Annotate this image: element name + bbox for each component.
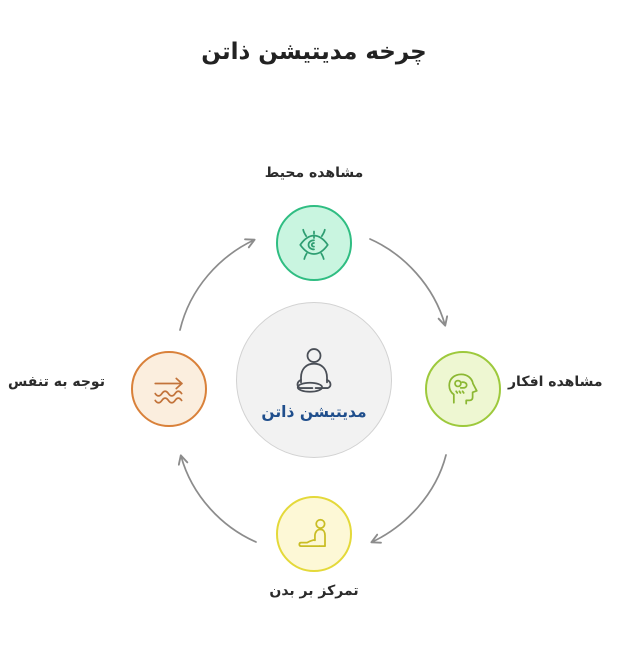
arrow-left-to-top <box>180 240 254 330</box>
node-attention-to-breath[interactable] <box>131 351 207 427</box>
center-hub-label: مدیتیشن ذاتن <box>261 403 366 422</box>
node-focus-on-body[interactable] <box>276 496 352 572</box>
arrow-top-to-right <box>370 239 445 325</box>
breath-waves-arrow-icon <box>147 367 191 411</box>
page-title: چرخه مدیتیشن ذاتن <box>0 38 628 68</box>
center-hub[interactable]: مدیتیشن ذاتن <box>236 302 392 458</box>
head-profile-brain-icon <box>441 367 485 411</box>
arrow-right-to-bottom <box>372 455 446 542</box>
mindfulness-cycle-diagram: چرخه مدیتیشن ذاتن مدیتیشن ذاتن <box>0 0 628 651</box>
node-label-observe-environment: مشاهده محیط <box>0 164 628 182</box>
node-label-observe-thoughts: مشاهده افکار <box>508 373 603 391</box>
node-label-attention-to-breath: توجه به تنفس <box>0 373 122 391</box>
node-observe-thoughts[interactable] <box>425 351 501 427</box>
node-observe-environment[interactable] <box>276 205 352 281</box>
seated-stretch-person-icon <box>292 512 336 556</box>
node-label-focus-on-body: تمرکز بر بدن <box>0 582 628 600</box>
arrow-bottom-to-left <box>181 456 256 542</box>
meditating-person-icon <box>288 345 340 397</box>
eye-icon <box>292 221 336 265</box>
